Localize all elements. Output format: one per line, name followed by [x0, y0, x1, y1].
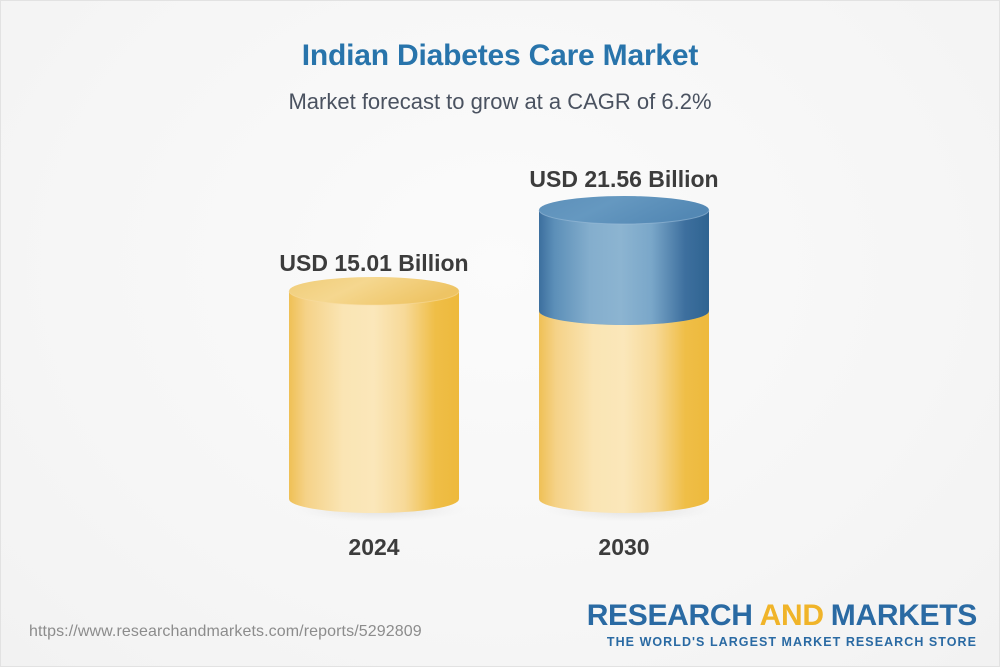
- logo-word-and: AND: [760, 599, 824, 632]
- bar-category-label-2024: 2024: [259, 534, 489, 561]
- chart-plot-area: USD 15.01 Billion: [1, 1, 1000, 667]
- source-url-link[interactable]: https://www.researchandmarkets.com/repor…: [29, 623, 422, 641]
- infographic-canvas: Indian Diabetes Care Market Market forec…: [0, 0, 1000, 667]
- bar-value-label-2024: USD 15.01 Billion: [259, 250, 489, 277]
- logo-word-research: RESEARCH: [587, 599, 753, 632]
- logo-tagline: THE WORLD'S LARGEST MARKET RESEARCH STOR…: [587, 636, 977, 649]
- bar-value-label-2030: USD 21.56 Billion: [509, 166, 739, 193]
- research-and-markets-logo[interactable]: RESEARCHANDMARKETS THE WORLD'S LARGEST M…: [587, 601, 977, 649]
- logo-wordmark: RESEARCHANDMARKETS: [587, 601, 977, 631]
- bar-cylinder-2030: [533, 196, 715, 521]
- bar-category-label-2030: 2030: [509, 534, 739, 561]
- bar-cylinder-2024: [283, 277, 465, 521]
- logo-word-markets: MARKETS: [831, 599, 977, 632]
